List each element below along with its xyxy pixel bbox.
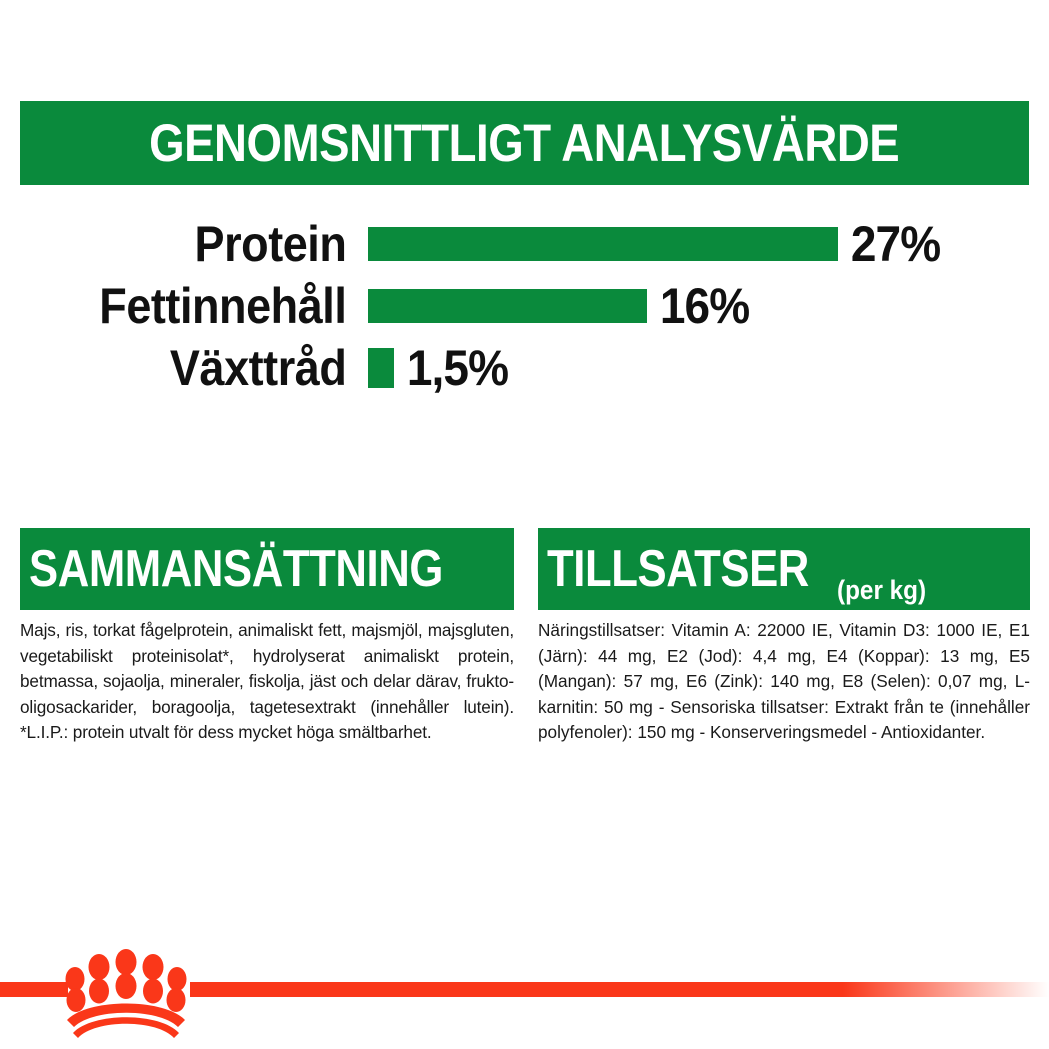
additives-section-title: TILLSATSER	[547, 543, 809, 595]
brand-footer	[0, 930, 1049, 1049]
chart-row-label: Fettinnehåll	[37, 281, 368, 331]
analysis-section-title: GENOMSNITTLIGT ANALYSVÄRDE	[149, 117, 899, 170]
additives-section-subtitle: (per kg)	[837, 575, 926, 610]
chart-bar-fat	[368, 289, 647, 323]
composition-body-text: Majs, ris, torkat fågelprotein, animalis…	[20, 618, 514, 746]
analysis-section-header: GENOMSNITTLIGT ANALYSVÄRDE	[20, 101, 1029, 185]
chart-row-label: Växttråd	[37, 343, 368, 393]
average-analysis-chart: Protein 27% Fettinnehåll 16% Växttråd 1,…	[0, 205, 1049, 405]
chart-row: Växttråd 1,5%	[0, 343, 1049, 393]
chart-row-value: 27%	[838, 219, 940, 269]
additives-body-text: Näringstillsatser: Vitamin A: 22000 IE, …	[538, 618, 1030, 746]
chart-row: Fettinnehåll 16%	[0, 281, 1049, 331]
chart-row-value: 1,5%	[394, 343, 508, 393]
chart-bar-fibre	[368, 348, 394, 388]
royal-canin-crown-icon	[62, 948, 190, 1040]
composition-section-header: SAMMANSÄTTNING	[20, 528, 514, 610]
brand-rule-right	[190, 982, 1049, 997]
additives-section-header: TILLSATSER (per kg)	[538, 528, 1030, 610]
chart-row: Protein 27%	[0, 219, 1049, 269]
chart-row-value: 16%	[647, 281, 749, 331]
chart-row-label: Protein	[37, 219, 368, 269]
chart-bar-protein	[368, 227, 838, 261]
brand-rule-left	[0, 982, 68, 997]
composition-section-title: SAMMANSÄTTNING	[29, 543, 443, 595]
